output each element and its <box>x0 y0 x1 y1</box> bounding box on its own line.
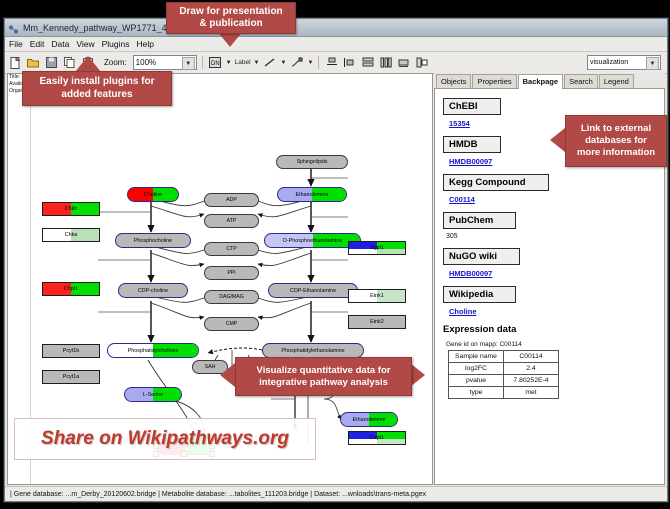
open-folder-icon[interactable] <box>26 55 41 70</box>
node-sphingolipids[interactable]: Sphingolipids <box>276 155 348 169</box>
table-row: Sample name C00114 <box>449 351 559 363</box>
callout-line-2: & publication <box>199 18 262 31</box>
link-kegg-compound[interactable]: C00114 <box>449 195 664 204</box>
visualization-chevron-icon[interactable]: ▼ <box>646 57 659 70</box>
gene-id-on-mapp: Gene id on mapp: C00114 <box>446 341 664 348</box>
cell-value: C00114 <box>504 351 559 363</box>
cell-value: 7.80252E-4 <box>504 375 559 387</box>
share-banner: Share on Wikipathways.org <box>14 418 316 460</box>
line-dropdown-icon[interactable]: ▼ <box>280 60 286 66</box>
zoom-label: Zoom: <box>104 58 127 67</box>
zoom-select[interactable]: 100% ▼ <box>133 55 197 70</box>
sidebar-tabs: Objects Properties Backpage Search Legen… <box>434 73 665 89</box>
node-o-phosphoethanolamine[interactable]: O-Phosphoethanolamine <box>264 233 361 248</box>
link-wikipedia[interactable]: Choline <box>449 307 664 316</box>
tab-objects[interactable]: Objects <box>436 74 471 88</box>
table-row: type met <box>449 387 559 399</box>
callout-draw-for-presentation: Draw for presentation & publication <box>166 2 296 34</box>
node-choline-top[interactable]: Choline <box>127 187 179 202</box>
status-text: | Gene database: ...m_Derby_20120602.bri… <box>5 491 426 498</box>
screenshot-root: Mm_Kennedy_pathway_WP1771_45176.gpml Fil… <box>0 0 670 509</box>
gene-sgpl1[interactable]: Sgpl1 <box>348 241 406 255</box>
shape-dropdown-icon[interactable]: ▼ <box>307 60 313 66</box>
callout-line-2: databases for <box>585 135 647 147</box>
node-cdp-ethanolamine[interactable]: CDP-Ethanolamine <box>268 283 358 298</box>
order-icon[interactable] <box>414 55 429 70</box>
cell-value: 2.4 <box>504 363 559 375</box>
section-header-wikipedia: Wikipedia <box>443 286 516 303</box>
gene-pcyt1b[interactable]: Pcyt1b <box>42 344 100 358</box>
save-icon[interactable] <box>44 55 59 70</box>
status-bar: | Gene database: ...m_Derby_20120602.bri… <box>5 486 667 501</box>
section-header-chebi: ChEBI <box>443 98 501 115</box>
gene-cept1[interactable]: Cept1 <box>348 431 406 445</box>
callout-line-2: added features <box>61 89 132 102</box>
callout-arrow-up <box>75 56 101 72</box>
align-center-icon[interactable] <box>324 55 339 70</box>
node-phosphatidylethanolamine[interactable]: Phosphatidylethanolamine <box>262 343 364 358</box>
menu-item-view[interactable]: View <box>76 39 94 49</box>
stack-icon[interactable] <box>360 55 375 70</box>
svg-text:DN: DN <box>211 61 220 67</box>
datanode-icon[interactable]: DN <box>208 55 223 70</box>
gene-pcyt1a[interactable]: Pcyt1a <box>42 370 100 384</box>
chevron-down-icon[interactable]: ▼ <box>182 57 195 70</box>
node-ethanolamine-bottom[interactable]: Ethanolamine <box>340 412 398 427</box>
gene-chka[interactable]: Chka <box>42 228 100 242</box>
cell-key: Sample name <box>449 351 504 363</box>
cell-key: log2FC <box>449 363 504 375</box>
tab-legend[interactable]: Legend <box>599 74 634 88</box>
section-header-pubchem: PubChem <box>443 212 516 229</box>
node-l-serine-left[interactable]: L-Serine <box>124 387 182 402</box>
callout-link-external-databases: Link to external databases for more info… <box>565 115 667 167</box>
callout-line-2: integrative pathway analysis <box>259 377 388 389</box>
node-ctp[interactable]: CTP <box>204 242 259 256</box>
callout-line-3: more information <box>577 147 655 159</box>
align-left-icon[interactable] <box>342 55 357 70</box>
callout-easily-install-plugins: Easily install plugins for added feature… <box>22 71 172 106</box>
node-ppi[interactable]: PPi <box>204 266 259 280</box>
callout-arrow-left <box>550 128 565 152</box>
node-phosphatidylcholines[interactable]: Phosphatidylcholines <box>107 343 199 358</box>
visualization-value: visualization <box>590 59 628 66</box>
value-pubchem: 305 <box>446 233 664 240</box>
group-icon[interactable] <box>396 55 411 70</box>
gene-etnk2[interactable]: Etnk2 <box>348 315 406 329</box>
menu-bar: File Edit Data View Plugins Help <box>5 37 667 52</box>
callout-line-1: Visualize quantitative data for <box>257 365 391 377</box>
title-bar: Mm_Kennedy_pathway_WP1771_45176.gpml <box>5 19 667 37</box>
tab-backpage[interactable]: Backpage <box>518 74 563 89</box>
space-equal-icon[interactable] <box>378 55 393 70</box>
node-cmp[interactable]: CMP <box>204 317 259 331</box>
table-row: log2FC 2.4 <box>449 363 559 375</box>
menu-item-edit[interactable]: Edit <box>30 39 45 49</box>
gene-chpt1[interactable]: Chpt1 <box>42 282 100 296</box>
node-adp[interactable]: ADP <box>204 193 259 207</box>
menu-item-plugins[interactable]: Plugins <box>102 39 130 49</box>
tab-search[interactable]: Search <box>564 74 598 88</box>
menu-item-data[interactable]: Data <box>51 39 69 49</box>
application-icon <box>8 22 19 33</box>
label-tool-label[interactable]: Label <box>235 59 251 66</box>
cell-key: type <box>449 387 504 399</box>
callout-visualize-quantitative-data: Visualize quantitative data for integrat… <box>235 357 412 396</box>
menu-item-help[interactable]: Help <box>137 39 154 49</box>
table-row: pvalue 7.80252E-4 <box>449 375 559 387</box>
visualization-select[interactable]: visualization ▼ <box>587 55 661 70</box>
link-nugo-wiki[interactable]: HMDB00097 <box>449 269 664 278</box>
callout-line-1: Draw for presentation <box>179 6 282 19</box>
node-atp[interactable]: ATP <box>204 214 259 228</box>
shape-tool-icon[interactable] <box>289 55 304 70</box>
callout-line-1: Link to external <box>581 123 651 135</box>
expression-table: Sample name C00114 log2FC 2.4 pvalue 7.8… <box>448 350 559 399</box>
cell-value: met <box>504 387 559 399</box>
cell-key: pvalue <box>449 375 504 387</box>
label-dropdown-icon[interactable]: ▼ <box>254 60 260 66</box>
expression-data-heading: Expression data <box>443 324 664 335</box>
node-ethanolamine[interactable]: Ethanolamine <box>277 187 347 202</box>
zoom-value: 100% <box>136 58 156 67</box>
tab-properties[interactable]: Properties <box>472 74 516 88</box>
toolbar-separator <box>202 56 203 69</box>
section-header-nugo-wiki: NuGO wiki <box>443 248 520 265</box>
menu-item-file[interactable]: File <box>9 39 23 49</box>
new-file-icon[interactable] <box>8 55 23 70</box>
line-tool-icon[interactable] <box>262 55 277 70</box>
node-phosphocholine[interactable]: Phosphocholine <box>115 233 191 248</box>
callout-line-1: Easily install plugins for <box>39 76 154 89</box>
datanode-dropdown-icon[interactable]: ▼ <box>226 60 232 66</box>
toolbar-separator <box>318 56 319 69</box>
callout-arrow-right <box>410 363 425 387</box>
share-text: Share on Wikipathways.org <box>41 428 289 450</box>
gene-etnk1[interactable]: Etnk1 <box>348 289 406 303</box>
node-cdp-choline[interactable]: CDP-choline <box>118 283 188 298</box>
section-header-kegg-compound: Kegg Compound <box>443 174 549 191</box>
callout-arrow-left <box>220 363 235 387</box>
gene-chkb[interactable]: Chkb <box>42 202 100 216</box>
section-header-hmdb: HMDB <box>443 136 501 153</box>
node-dag-mag[interactable]: DAG/MAG <box>204 290 259 304</box>
